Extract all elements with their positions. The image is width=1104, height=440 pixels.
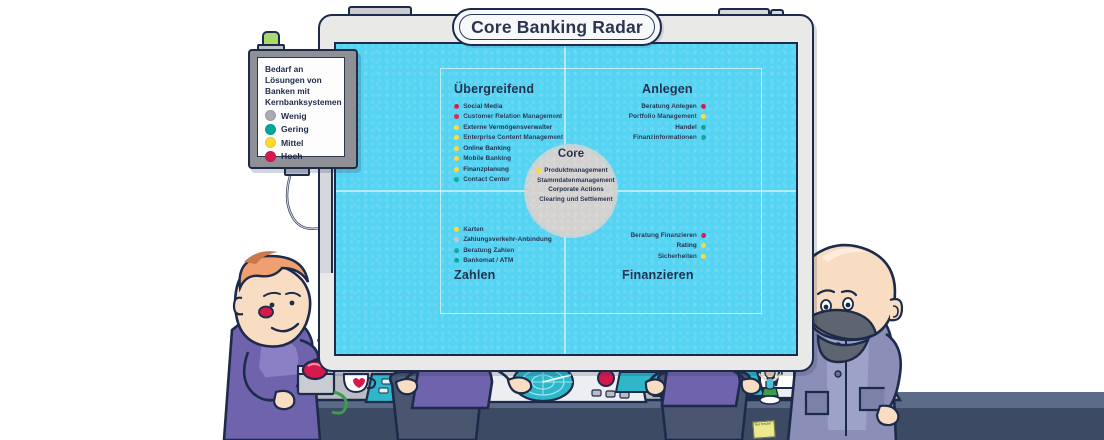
radar-item: Rating — [630, 241, 706, 252]
legend-color-dot-icon — [265, 110, 276, 121]
radar-item-label: Karten — [463, 226, 484, 233]
legend-rows: WenigGeringMittelHoch — [265, 110, 337, 162]
radar-item-label: Enterprise Content Management — [463, 134, 563, 141]
core-item-color-dot-icon — [540, 187, 545, 192]
page-title: Core Banking Radar — [471, 17, 643, 38]
radar-item-label: Bankomat / ATM — [463, 257, 513, 264]
radar-item-color-dot-icon — [454, 135, 459, 140]
radar-item-color-dot-icon — [701, 233, 706, 238]
radar-item-label: Externe Vermögensverwalter — [463, 124, 552, 131]
radar-item-label: Finanzinformationen — [633, 134, 697, 141]
legend-item-label: Gering — [281, 124, 309, 134]
main-monitor-screen: Übergreifend Anlegen Zahlen Finanzieren … — [334, 42, 798, 356]
radar-item-label: Finanzplanung — [463, 166, 509, 173]
radar-item: Customer Relation Management — [454, 112, 563, 123]
radar-item-color-dot-icon — [454, 227, 459, 232]
radar-item-label: Customer Relation Management — [463, 113, 562, 120]
legend-item: Mittel — [265, 137, 337, 148]
radar-item: Contact Center — [454, 175, 563, 186]
radar-item-label: Beratung Zahlen — [463, 247, 514, 254]
quadrant-label-bottom-left: Zahlen — [454, 268, 495, 282]
quadrant-items-ubergreifend: Social MediaCustomer Relation Management… — [454, 101, 563, 185]
radar-item: Externe Vermögensverwalter — [454, 122, 563, 133]
radar-item: Sicherheiten — [630, 251, 706, 262]
radar-item-color-dot-icon — [701, 254, 706, 259]
legend-item-label: Mittel — [281, 138, 303, 148]
radar-item: Zahlungsverkehr-Anbindung — [454, 235, 552, 246]
illustration-canvas: Übergreifend Anlegen Zahlen Finanzieren … — [0, 0, 1104, 440]
radar-item-label: Social Media — [463, 103, 502, 110]
legend-item-label: Wenig — [281, 111, 307, 121]
radar-item: Online Banking — [454, 143, 563, 154]
core-item-color-dot-icon — [531, 197, 536, 202]
quadrant-label-top-right: Anlegen — [642, 82, 693, 96]
legend-color-dot-icon — [265, 137, 276, 148]
console-desk — [236, 366, 1104, 440]
legend-item: Hoch — [265, 151, 337, 162]
radar-item: Beratung Zahlen — [454, 245, 552, 256]
radar-item-color-dot-icon — [454, 167, 459, 172]
radar-item-color-dot-icon — [454, 104, 459, 109]
legend-title: Bedarf an Lösungen von Banken mit Kernba… — [265, 64, 337, 108]
legend-item-label: Hoch — [281, 151, 302, 161]
radar-item-label: Beratung Finanzieren — [630, 232, 696, 239]
screen-title-pill: Core Banking Radar — [452, 8, 662, 46]
radar-item-label: Sicherheiten — [658, 253, 697, 260]
radar-item: Portfolio Management — [629, 112, 706, 123]
radar-item-color-dot-icon — [701, 114, 706, 119]
core-item-label: Corporate Actions — [548, 186, 604, 193]
legend-item: Gering — [265, 124, 337, 135]
legend-panel: Bedarf an Lösungen von Banken mit Kernba… — [257, 57, 345, 157]
quadrant-items-anlegen: Beratung AnlegenPortfolio ManagementHand… — [629, 101, 706, 143]
radar-item: Beratung Anlegen — [629, 101, 706, 112]
legend-color-dot-icon — [265, 151, 276, 162]
radar-item: Mobile Banking — [454, 154, 563, 165]
radar-item-color-dot-icon — [454, 258, 459, 263]
radar-item-color-dot-icon — [454, 237, 459, 242]
radar-item-label: Zahlungsverkehr-Anbindung — [463, 236, 552, 243]
core-item-label: Clearing und Settlement — [539, 196, 613, 203]
quadrant-items-finanzieren: Beratung FinanzierenRatingSicherheiten — [630, 230, 706, 262]
legend-monitor-cable — [287, 170, 320, 229]
radar-item-color-dot-icon — [454, 114, 459, 119]
radar-item-label: Beratung Anlegen — [641, 103, 697, 110]
core-item: Corporate Actions — [502, 185, 642, 195]
radar-item: Handel — [629, 122, 706, 133]
quadrant-label-top-left: Übergreifend — [454, 82, 534, 96]
radar-item: Social Media — [454, 101, 563, 112]
radar-item-color-dot-icon — [701, 243, 706, 248]
radar-item: Finanzplanung — [454, 164, 563, 175]
radar-item-label: Portfolio Management — [629, 113, 697, 120]
radar-item-label: Handel — [675, 124, 697, 131]
radar-item-color-dot-icon — [701, 104, 706, 109]
sticky-note: Nur heute! — [752, 420, 775, 438]
radar-item: Bankomat / ATM — [454, 256, 552, 267]
radar-item-color-dot-icon — [454, 125, 459, 130]
core-banking-radar-chart: Übergreifend Anlegen Zahlen Finanzieren … — [336, 44, 796, 354]
radar-item-label: Online Banking — [463, 145, 511, 152]
radar-item-color-dot-icon — [454, 248, 459, 253]
legend-monitor-arm — [318, 158, 333, 273]
radar-item-color-dot-icon — [454, 177, 459, 182]
radar-item-label: Rating — [677, 242, 697, 249]
radar-item-label: Contact Center — [463, 176, 510, 183]
radar-item-label: Mobile Banking — [463, 155, 511, 162]
radar-item-color-dot-icon — [701, 135, 706, 140]
legend-color-dot-icon — [265, 124, 276, 135]
radar-item-color-dot-icon — [701, 125, 706, 130]
legend-item: Wenig — [265, 110, 337, 121]
radar-item: Beratung Finanzieren — [630, 230, 706, 241]
core-item: Clearing und Settlement — [502, 195, 642, 205]
radar-item-color-dot-icon — [454, 156, 459, 161]
radar-item: Enterprise Content Management — [454, 133, 563, 144]
radar-item: Finanzinformationen — [629, 133, 706, 144]
radar-item-color-dot-icon — [454, 146, 459, 151]
radar-item: Karten — [454, 224, 552, 235]
quadrant-label-bottom-right: Finanzieren — [622, 268, 694, 282]
quadrant-items-zahlen: KartenZahlungsverkehr-AnbindungBeratung … — [454, 224, 552, 266]
